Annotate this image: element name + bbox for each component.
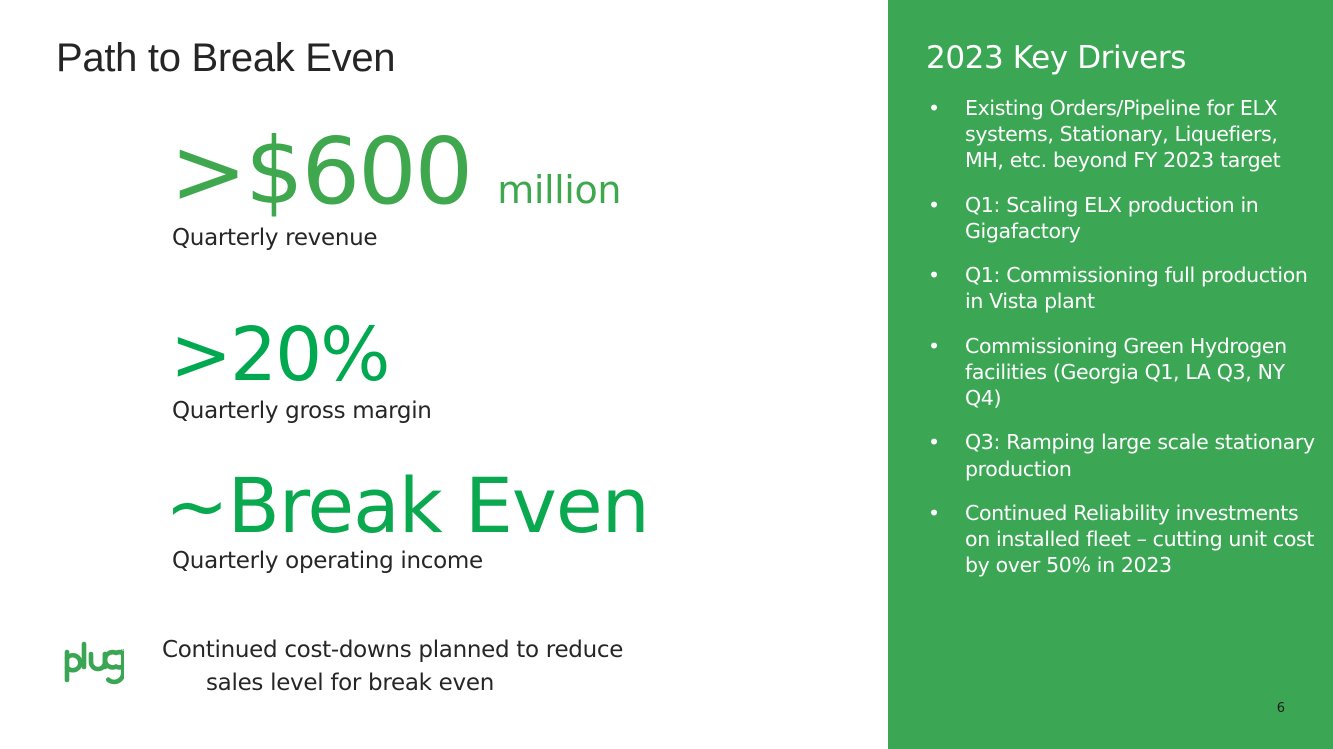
metric-caption: Quarterly revenue [0,225,860,251]
list-item-text: Q1: Commissioning full production in Vis… [965,263,1308,313]
metric-quarterly-revenue: >$600 million Quarterly revenue [0,128,860,251]
list-item: • Commissioning Green Hydrogen facilitie… [918,333,1318,412]
slide-canvas: Path to Break Even >$600 million Quarter… [0,0,1333,749]
list-item-text: Existing Orders/Pipeline for ELX systems… [965,96,1280,172]
list-item: • Q3: Ramping large scale stationary pro… [918,429,1318,481]
metric-quarterly-gross-margin: >20% Quarterly gross margin [0,320,860,424]
footer-text: Continued cost-downs planned to reduce s… [138,630,623,701]
metric-unit: million [497,168,621,212]
metric-value: >$600 [170,128,471,215]
bullet-icon: • [928,192,940,218]
key-drivers-list: • Existing Orders/Pipeline for ELX syste… [918,95,1318,597]
page-title: Path to Break Even [56,36,395,81]
metric-value-row: ~Break Even [0,470,860,542]
list-item: • Q1: Scaling ELX production in Gigafact… [918,192,1318,244]
list-item-text: Q1: Scaling ELX production in Gigafactor… [965,193,1258,243]
footer-note: ™ Continued cost-downs planned to reduce… [62,630,862,701]
list-item: • Q1: Commissioning full production in V… [918,262,1318,314]
metric-value-row: >$600 million [0,128,860,215]
metric-value: >20% [170,320,388,390]
page-number: 6 [1277,701,1285,716]
metric-quarterly-operating-income: ~Break Even Quarterly operating income [0,470,860,574]
metric-value-row: >20% [0,320,860,390]
plug-logo: ™ [62,630,138,693]
plug-logo-icon: ™ [62,640,124,688]
footer-text-line1: Continued cost-downs planned to reduce [162,634,623,667]
footer-text-line2: sales level for break even [162,667,623,700]
list-item-text: Q3: Ramping large scale stationary produ… [965,430,1315,480]
key-drivers-panel: 2023 Key Drivers • Existing Orders/Pipel… [888,0,1333,749]
list-item: • Continued Reliability investments on i… [918,500,1318,579]
key-drivers-title: 2023 Key Drivers [926,40,1186,76]
bullet-icon: • [928,333,940,359]
list-item: • Existing Orders/Pipeline for ELX syste… [918,95,1318,174]
list-item-text: Commissioning Green Hydrogen facilities … [965,334,1287,410]
list-item-text: Continued Reliability investments on ins… [965,501,1314,577]
bullet-icon: • [928,262,940,288]
metric-value: ~Break Even [165,470,649,542]
metric-caption: Quarterly operating income [0,548,860,574]
bullet-icon: • [928,500,940,526]
metric-caption: Quarterly gross margin [0,398,860,424]
trademark-mark: ™ [120,648,124,656]
bullet-icon: • [928,95,940,121]
bullet-icon: • [928,429,940,455]
